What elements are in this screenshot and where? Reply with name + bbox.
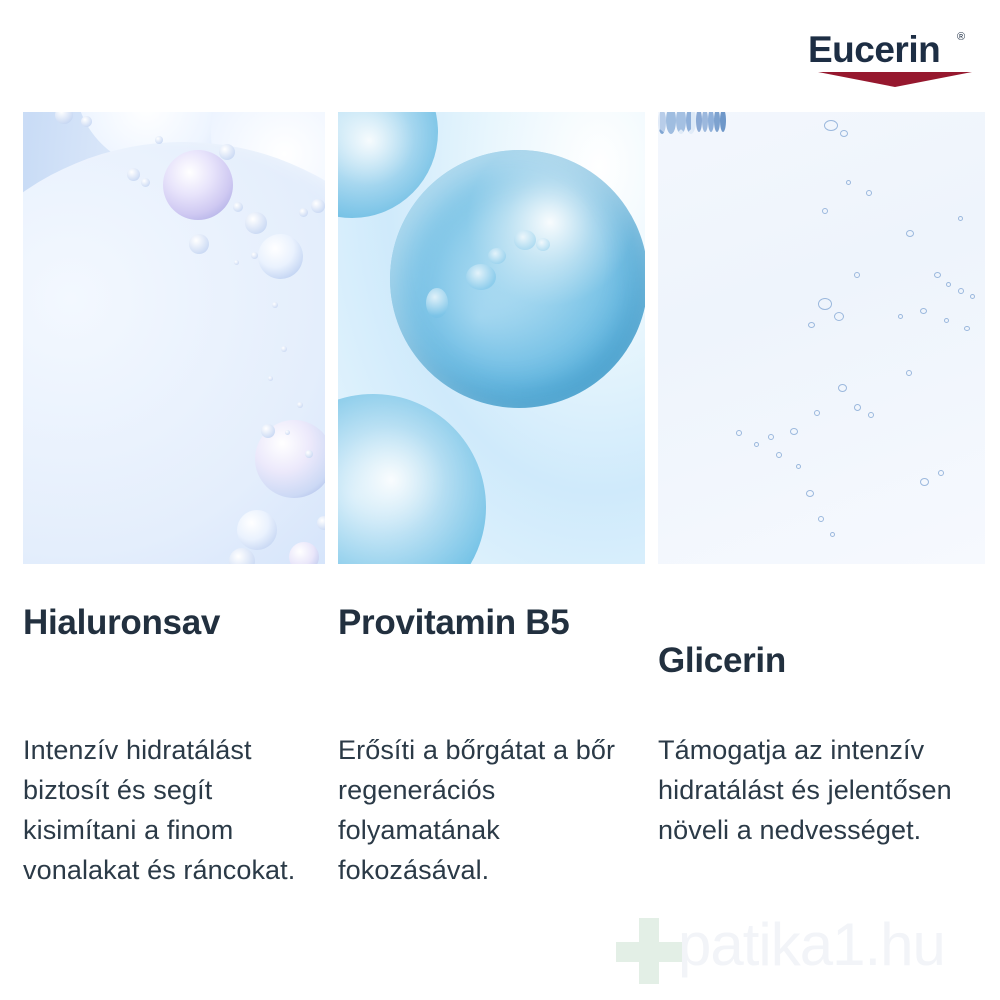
watermark-text: patika1.hu <box>678 910 945 980</box>
title-box: Provitamin B5 <box>338 600 645 730</box>
column-provitamin-b5: Provitamin B5 Erősíti a bőrgátat a bőr r… <box>338 600 645 890</box>
ingredient-image-strip <box>23 112 985 564</box>
registered-trademark-icon: ® <box>957 32 965 43</box>
ingredient-title: Glicerin <box>658 600 985 683</box>
image-periwinkle-bubbles-photo <box>23 112 325 564</box>
column-glicerin: Glicerin Támogatja az intenzív hidratálá… <box>658 600 985 890</box>
eucerin-red-chevron-icon <box>818 72 972 87</box>
ingredient-title: Provitamin B5 <box>338 600 645 645</box>
image-clear-gel-bubbles-photo <box>658 112 985 564</box>
ingredient-description: Támogatja az intenzív hidratálást és jel… <box>658 730 998 850</box>
title-box: Hialuronsav <box>23 600 325 730</box>
pharmacy-cross-icon <box>616 918 682 984</box>
ingredient-text-columns: Hialuronsav Intenzív hidratálást biztosí… <box>23 600 985 890</box>
title-box: Glicerin <box>658 600 985 730</box>
column-hialuronsav: Hialuronsav Intenzív hidratálást biztosí… <box>23 600 325 890</box>
image-cyan-spheres-photo <box>338 112 645 564</box>
eucerin-logo[interactable]: Eucerin ® <box>808 30 983 88</box>
ingredient-infographic: Eucerin ® <box>0 0 1000 1000</box>
site-watermark: patika1.hu <box>616 906 1000 992</box>
ingredient-description: Erősíti a bőrgátat a bőr regenerációs fo… <box>338 730 645 890</box>
ingredient-description: Intenzív hidratálást biztosít és segít k… <box>23 730 325 890</box>
ingredient-title: Hialuronsav <box>23 600 325 645</box>
